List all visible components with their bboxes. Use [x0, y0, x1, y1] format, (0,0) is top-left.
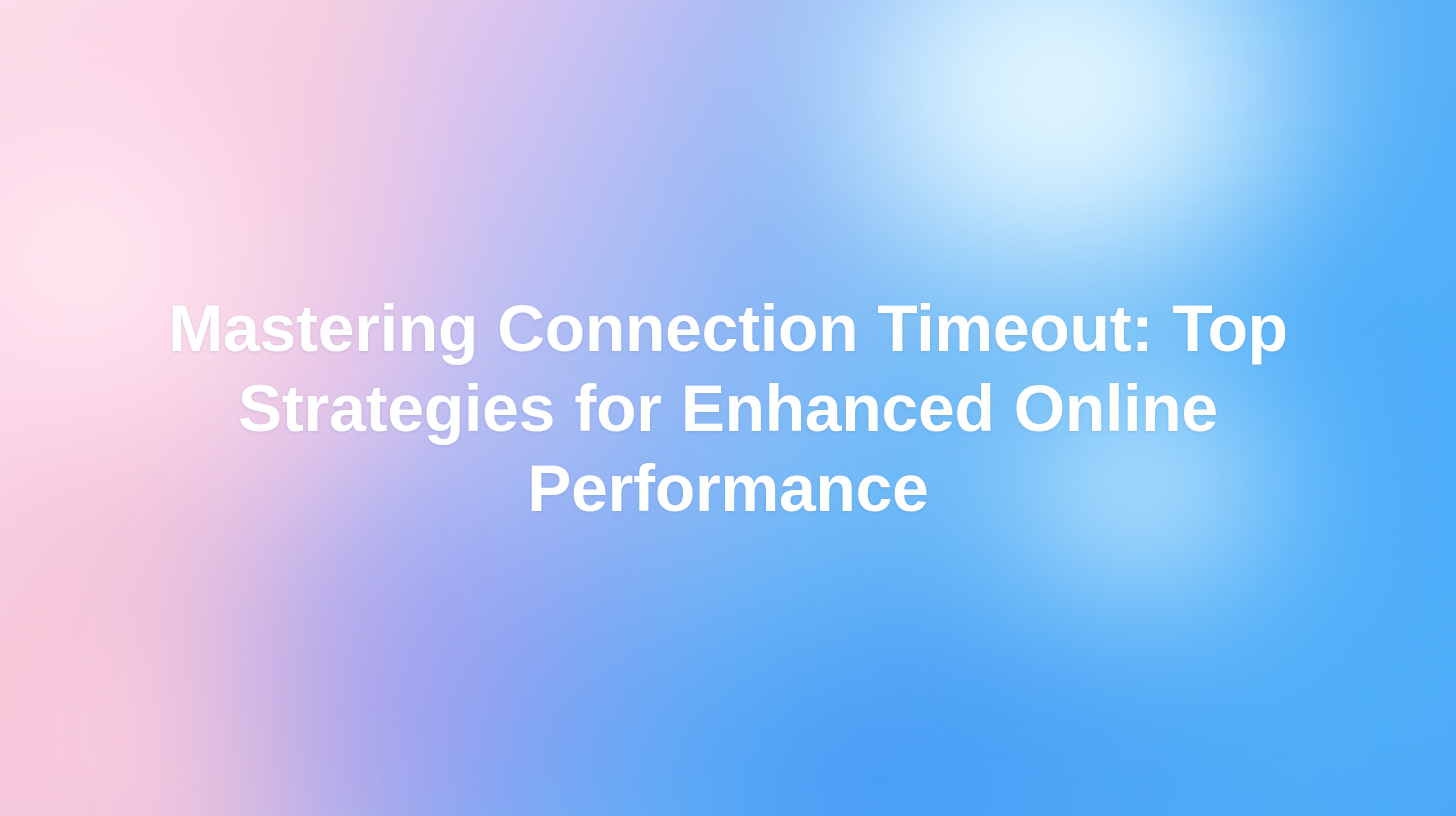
page-title: Mastering Connection Timeout: Top Strate… — [138, 288, 1318, 528]
page-title-line-3: Performance — [138, 448, 1318, 528]
headline-container: Mastering Connection Timeout: Top Strate… — [98, 288, 1358, 528]
page-title-line-2: Strategies for Enhanced Online — [138, 368, 1318, 448]
hero-banner: Mastering Connection Timeout: Top Strate… — [0, 0, 1456, 816]
page-title-line-1: Mastering Connection Timeout: Top — [138, 288, 1318, 368]
